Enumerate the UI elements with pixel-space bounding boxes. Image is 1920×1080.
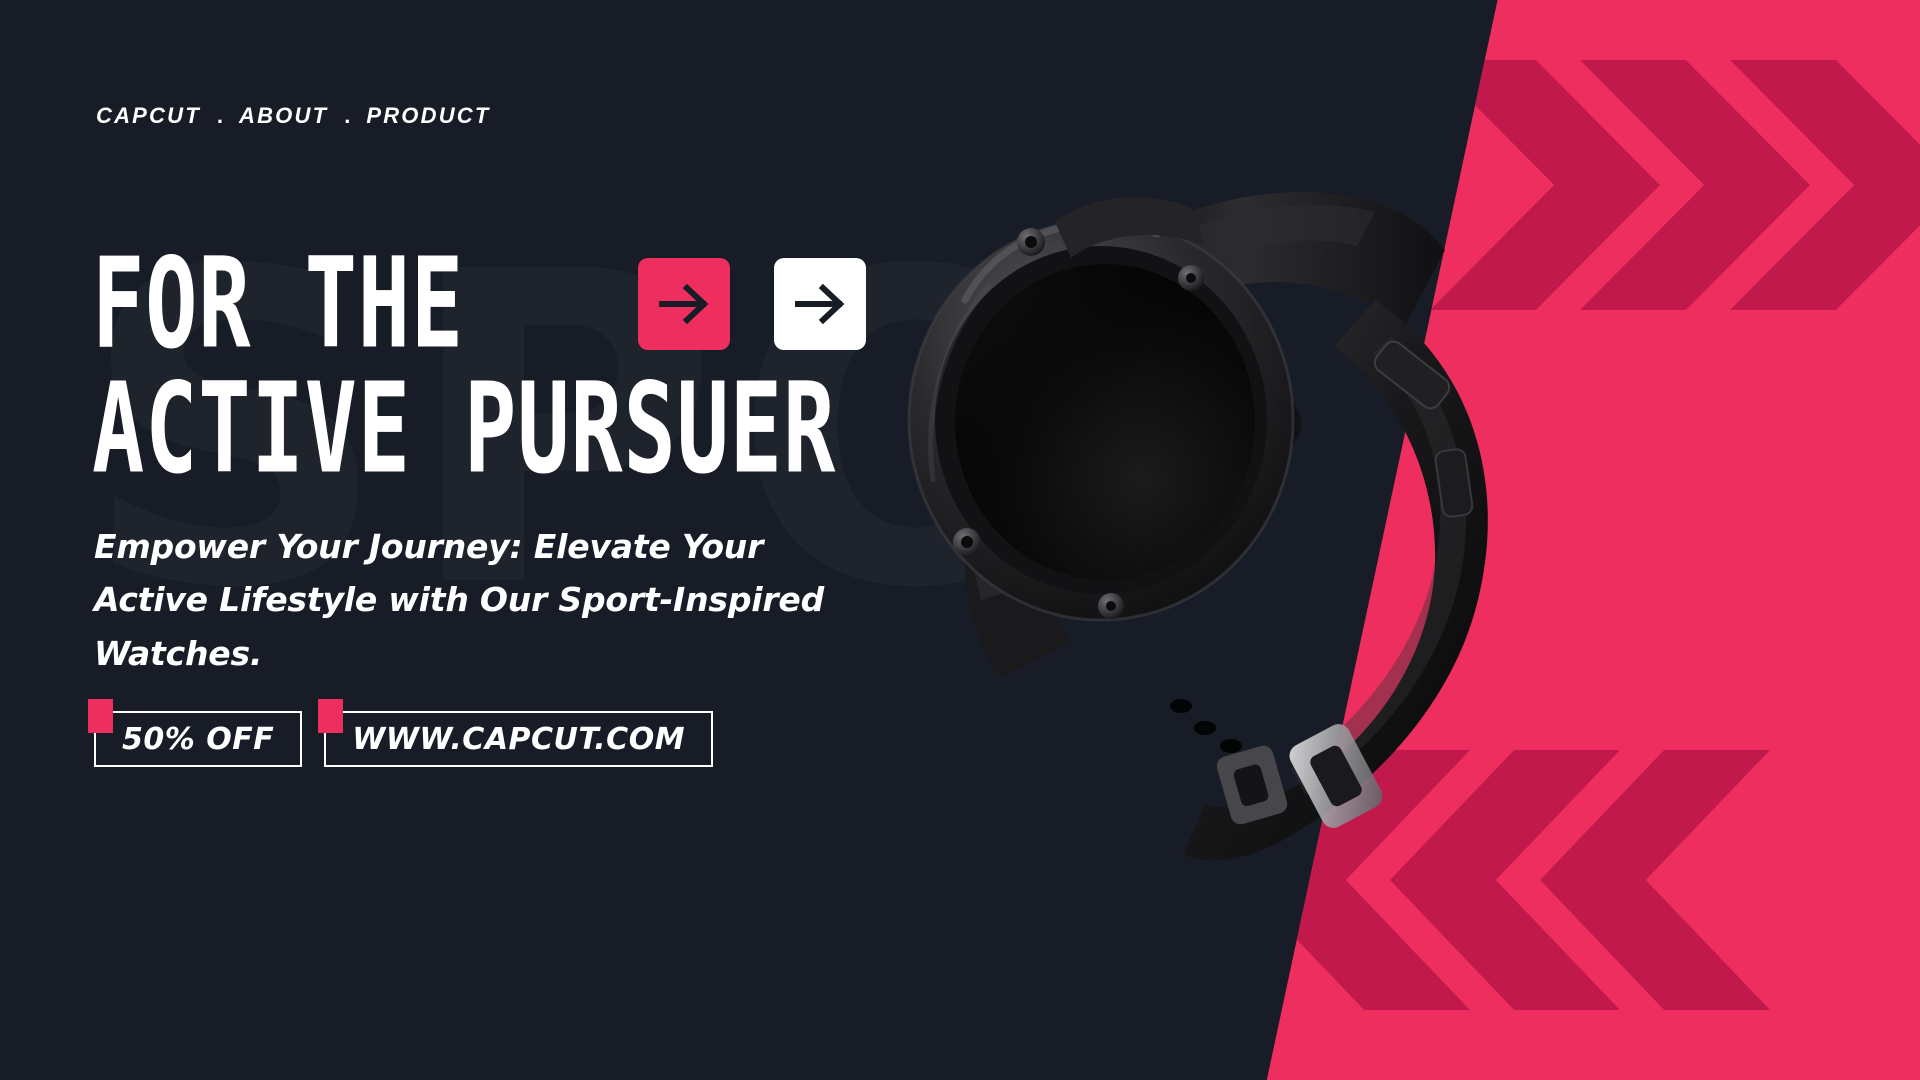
arrow-badge-group — [638, 258, 866, 350]
arrow-right-icon — [793, 277, 847, 331]
headline-block: FOR THE ACTIVE PURSUER — [92, 248, 999, 485]
arrow-badge-pink[interactable] — [638, 258, 730, 350]
top-navigation: CAPCUT . ABOUT . PRODUCT — [96, 103, 491, 129]
pink-square-accent — [88, 699, 113, 733]
nav-item-about[interactable]: ABOUT — [239, 103, 328, 129]
promo-banner: SPO — [0, 0, 1920, 1080]
arrow-badge-white[interactable] — [774, 258, 866, 350]
headline-line-1: FOR THE — [92, 238, 464, 369]
arrow-right-icon — [657, 277, 711, 331]
strap-hole — [1220, 739, 1242, 753]
nav-item-product[interactable]: PRODUCT — [366, 103, 490, 129]
discount-tag-label: 50% OFF — [122, 722, 274, 757]
discount-tag[interactable]: 50% OFF — [94, 711, 302, 767]
headline-line-2: ACTIVE PURSUER — [92, 363, 836, 494]
website-tag[interactable]: WWW.CAPCUT.COM — [324, 711, 713, 767]
nav-separator: . — [201, 103, 239, 129]
strap-hole — [1194, 721, 1216, 735]
website-tag-label: WWW.CAPCUT.COM — [352, 722, 685, 757]
nav-item-capcut[interactable]: CAPCUT — [96, 103, 201, 129]
headline-row-1: FOR THE — [92, 248, 999, 359]
bottom-tag-row: 50% OFF WWW.CAPCUT.COM — [94, 711, 713, 767]
pink-square-accent — [318, 699, 343, 733]
nav-separator: . — [328, 103, 366, 129]
strap-hole — [1170, 699, 1192, 713]
subtitle-text: Empower Your Journey: Elevate Your Activ… — [94, 520, 834, 680]
product-image-smartwatch — [905, 150, 1545, 870]
